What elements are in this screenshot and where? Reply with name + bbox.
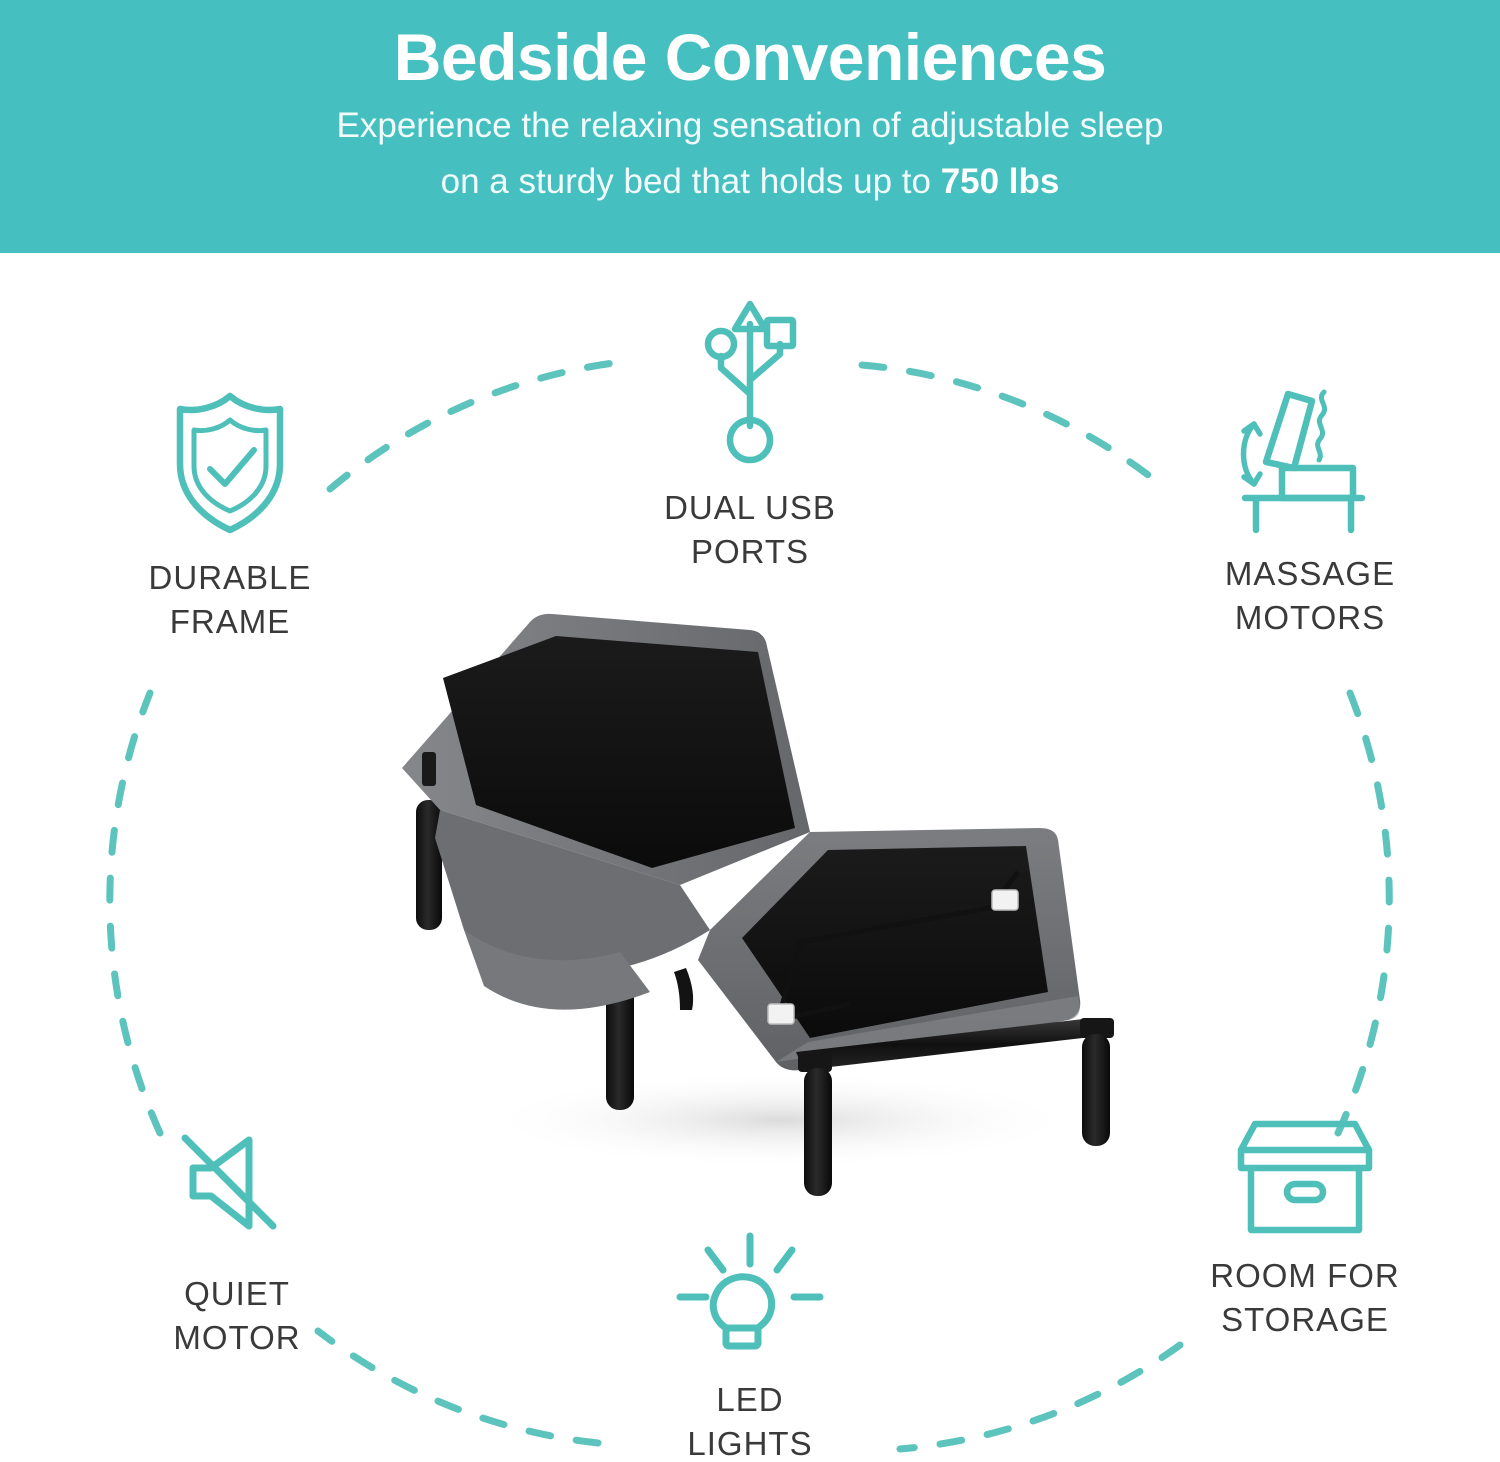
usb-icon [694, 298, 806, 464]
feature-label-quiet-motor: QUIET MOTOR [173, 1272, 300, 1360]
banner-subtitle-line-2: on a sturdy bed that holds up to 750 lbs [441, 159, 1060, 205]
feature-label-led-lights: LED LIGHTS [687, 1378, 812, 1462]
shield-check-icon [150, 382, 310, 542]
feature-label-room-for-storage: ROOM FOR STORAGE [1210, 1254, 1399, 1342]
feature-room-for-storage: ROOM FOR STORAGE [1130, 1112, 1480, 1342]
banner-subtitle-line-1: Experience the relaxing sensation of adj… [337, 103, 1164, 149]
feature-quiet-motor: QUIET MOTOR [72, 1130, 402, 1360]
feature-label-durable-frame: DURABLE FRAME [149, 556, 312, 644]
massage-bed-icon [1220, 378, 1400, 538]
page-title: Bedside Conveniences [394, 22, 1107, 93]
feature-label-dual-usb-ports: DUAL USB PORTS [664, 486, 836, 574]
feature-label-massage-motors: MASSAGE MOTORS [1225, 552, 1395, 640]
muted-speaker-icon [177, 1130, 297, 1242]
header-banner: Bedside Conveniences Experience the rela… [0, 0, 1500, 253]
feature-massage-motors: MASSAGE MOTORS [1140, 378, 1480, 640]
storage-box-icon [1225, 1112, 1385, 1240]
infographic-page: Bedside Conveniences Experience the rela… [0, 0, 1500, 1462]
product-image-adjustable-bed [380, 600, 1140, 1220]
feature-led-lights: LED LIGHTS [620, 1232, 880, 1462]
feature-durable-frame: DURABLE FRAME [60, 382, 400, 644]
feature-dual-usb-ports: DUAL USB PORTS [620, 298, 880, 574]
weight-capacity-highlight: 750 lbs [941, 162, 1060, 201]
banner-subtitle-prefix: on a sturdy bed that holds up to [441, 162, 941, 201]
lightbulb-icon [674, 1232, 826, 1358]
